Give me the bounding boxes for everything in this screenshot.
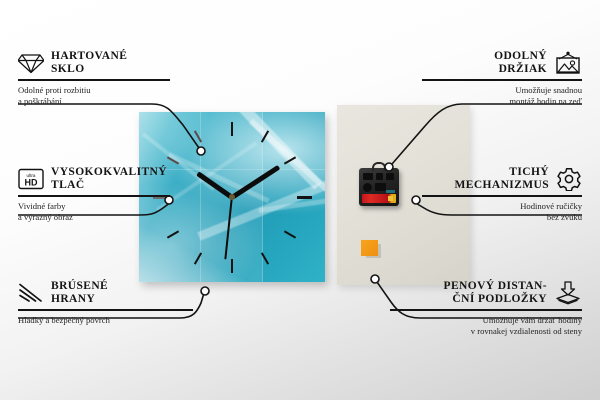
feature-title: BRÚSENÉ HRANY (51, 280, 108, 306)
feature-desc: Vividné farby (18, 201, 170, 212)
feature-title: ODOLNÝ DRŽIAK (494, 50, 547, 76)
feature-title: TICHÝ MECHANIZMUS (455, 166, 550, 192)
mechanism-detail (376, 173, 383, 180)
feature-desc: v rovnakej vzdialenosti od steny (390, 326, 582, 337)
hanger-loop-icon (372, 162, 386, 171)
feature-header: ODOLNÝ DRŽIAK (422, 50, 582, 76)
beveled-edges-icon (18, 282, 44, 304)
feature-desc: a poškrábání (18, 96, 170, 107)
mechanism-label (386, 190, 395, 193)
feature-odolny-drziak: ODOLNÝ DRŽIAK Umožňuje snadnou montáž ho… (422, 50, 582, 107)
mechanism-detail (363, 183, 372, 192)
feature-penove-podlozky: PENOVÝ DISTAN- ČNÍ PODLOŽKY Umožňuje vám… (390, 280, 582, 337)
quartz-mechanism (359, 168, 399, 206)
feature-title: HARTOVANÉ SKLO (51, 50, 127, 76)
feature-vysokokvalitny-tlac: ultra HD VYSOKOKVALITNÝ TLAČ Vividné far… (18, 166, 170, 223)
feature-desc: Odolné proti rozbitiu (18, 85, 170, 96)
feature-title: VYSOKOKVALITNÝ TLAČ (51, 166, 167, 192)
foam-spacer-icon (554, 281, 582, 305)
svg-text:HD: HD (25, 178, 38, 188)
feature-header: BRÚSENÉ HRANY (18, 280, 193, 306)
feature-desc: Umožňuje vám držať hodiny (390, 315, 582, 326)
feature-header: HARTOVANÉ SKLO (18, 50, 170, 76)
feature-header: TICHÝ MECHANIZMUS (422, 166, 582, 192)
battery (362, 194, 396, 203)
clock-tick-12 (231, 122, 233, 136)
mechanism-detail (363, 173, 373, 180)
diamond-icon (18, 52, 44, 74)
feature-desc: Umožňuje snadnou (422, 85, 582, 96)
feature-desc: Hodinové ručičky (422, 201, 582, 212)
divider (390, 309, 582, 311)
divider (18, 309, 193, 311)
feature-brusene-hrany: BRÚSENÉ HRANY Hladký a bezpečný povrch (18, 280, 193, 326)
feature-tichy-mechanizmus: TICHÝ MECHANIZMUS Hodinové ručičky bez z… (422, 166, 582, 223)
foam-spacer-pad (361, 240, 378, 256)
divider (422, 79, 582, 81)
picture-hanger-icon (554, 51, 582, 75)
feature-desc: Hladký a bezpečný povrch (18, 315, 193, 326)
hands-center-cap (229, 194, 235, 200)
product-infographic: HARTOVANÉ SKLO Odolné proti rozbitiu a p… (0, 0, 600, 400)
connector-dot-3 (201, 287, 209, 295)
clock-tick-4 (284, 230, 296, 238)
ultra-hd-icon: ultra HD (18, 168, 44, 190)
mechanism-detail (386, 173, 394, 180)
feature-hartovane-sklo: HARTOVANÉ SKLO Odolné proti rozbitiu a p… (18, 50, 170, 107)
mechanism-detail (375, 183, 386, 191)
feature-title: PENOVÝ DISTAN- ČNÍ PODLOŽKY (444, 280, 547, 306)
divider (18, 79, 170, 81)
feature-header: PENOVÝ DISTAN- ČNÍ PODLOŽKY (390, 280, 582, 306)
feature-desc: montáž hodin na zeď (422, 96, 582, 107)
gear-icon (556, 167, 582, 191)
feature-desc: a výrazný obraz (18, 212, 170, 223)
clock-tick-6 (231, 259, 233, 273)
divider (18, 195, 170, 197)
divider (422, 195, 582, 197)
feature-header: ultra HD VYSOKOKVALITNÝ TLAČ (18, 166, 170, 192)
feature-desc: bez zvuku (422, 212, 582, 223)
clock-tick-3 (297, 196, 312, 199)
